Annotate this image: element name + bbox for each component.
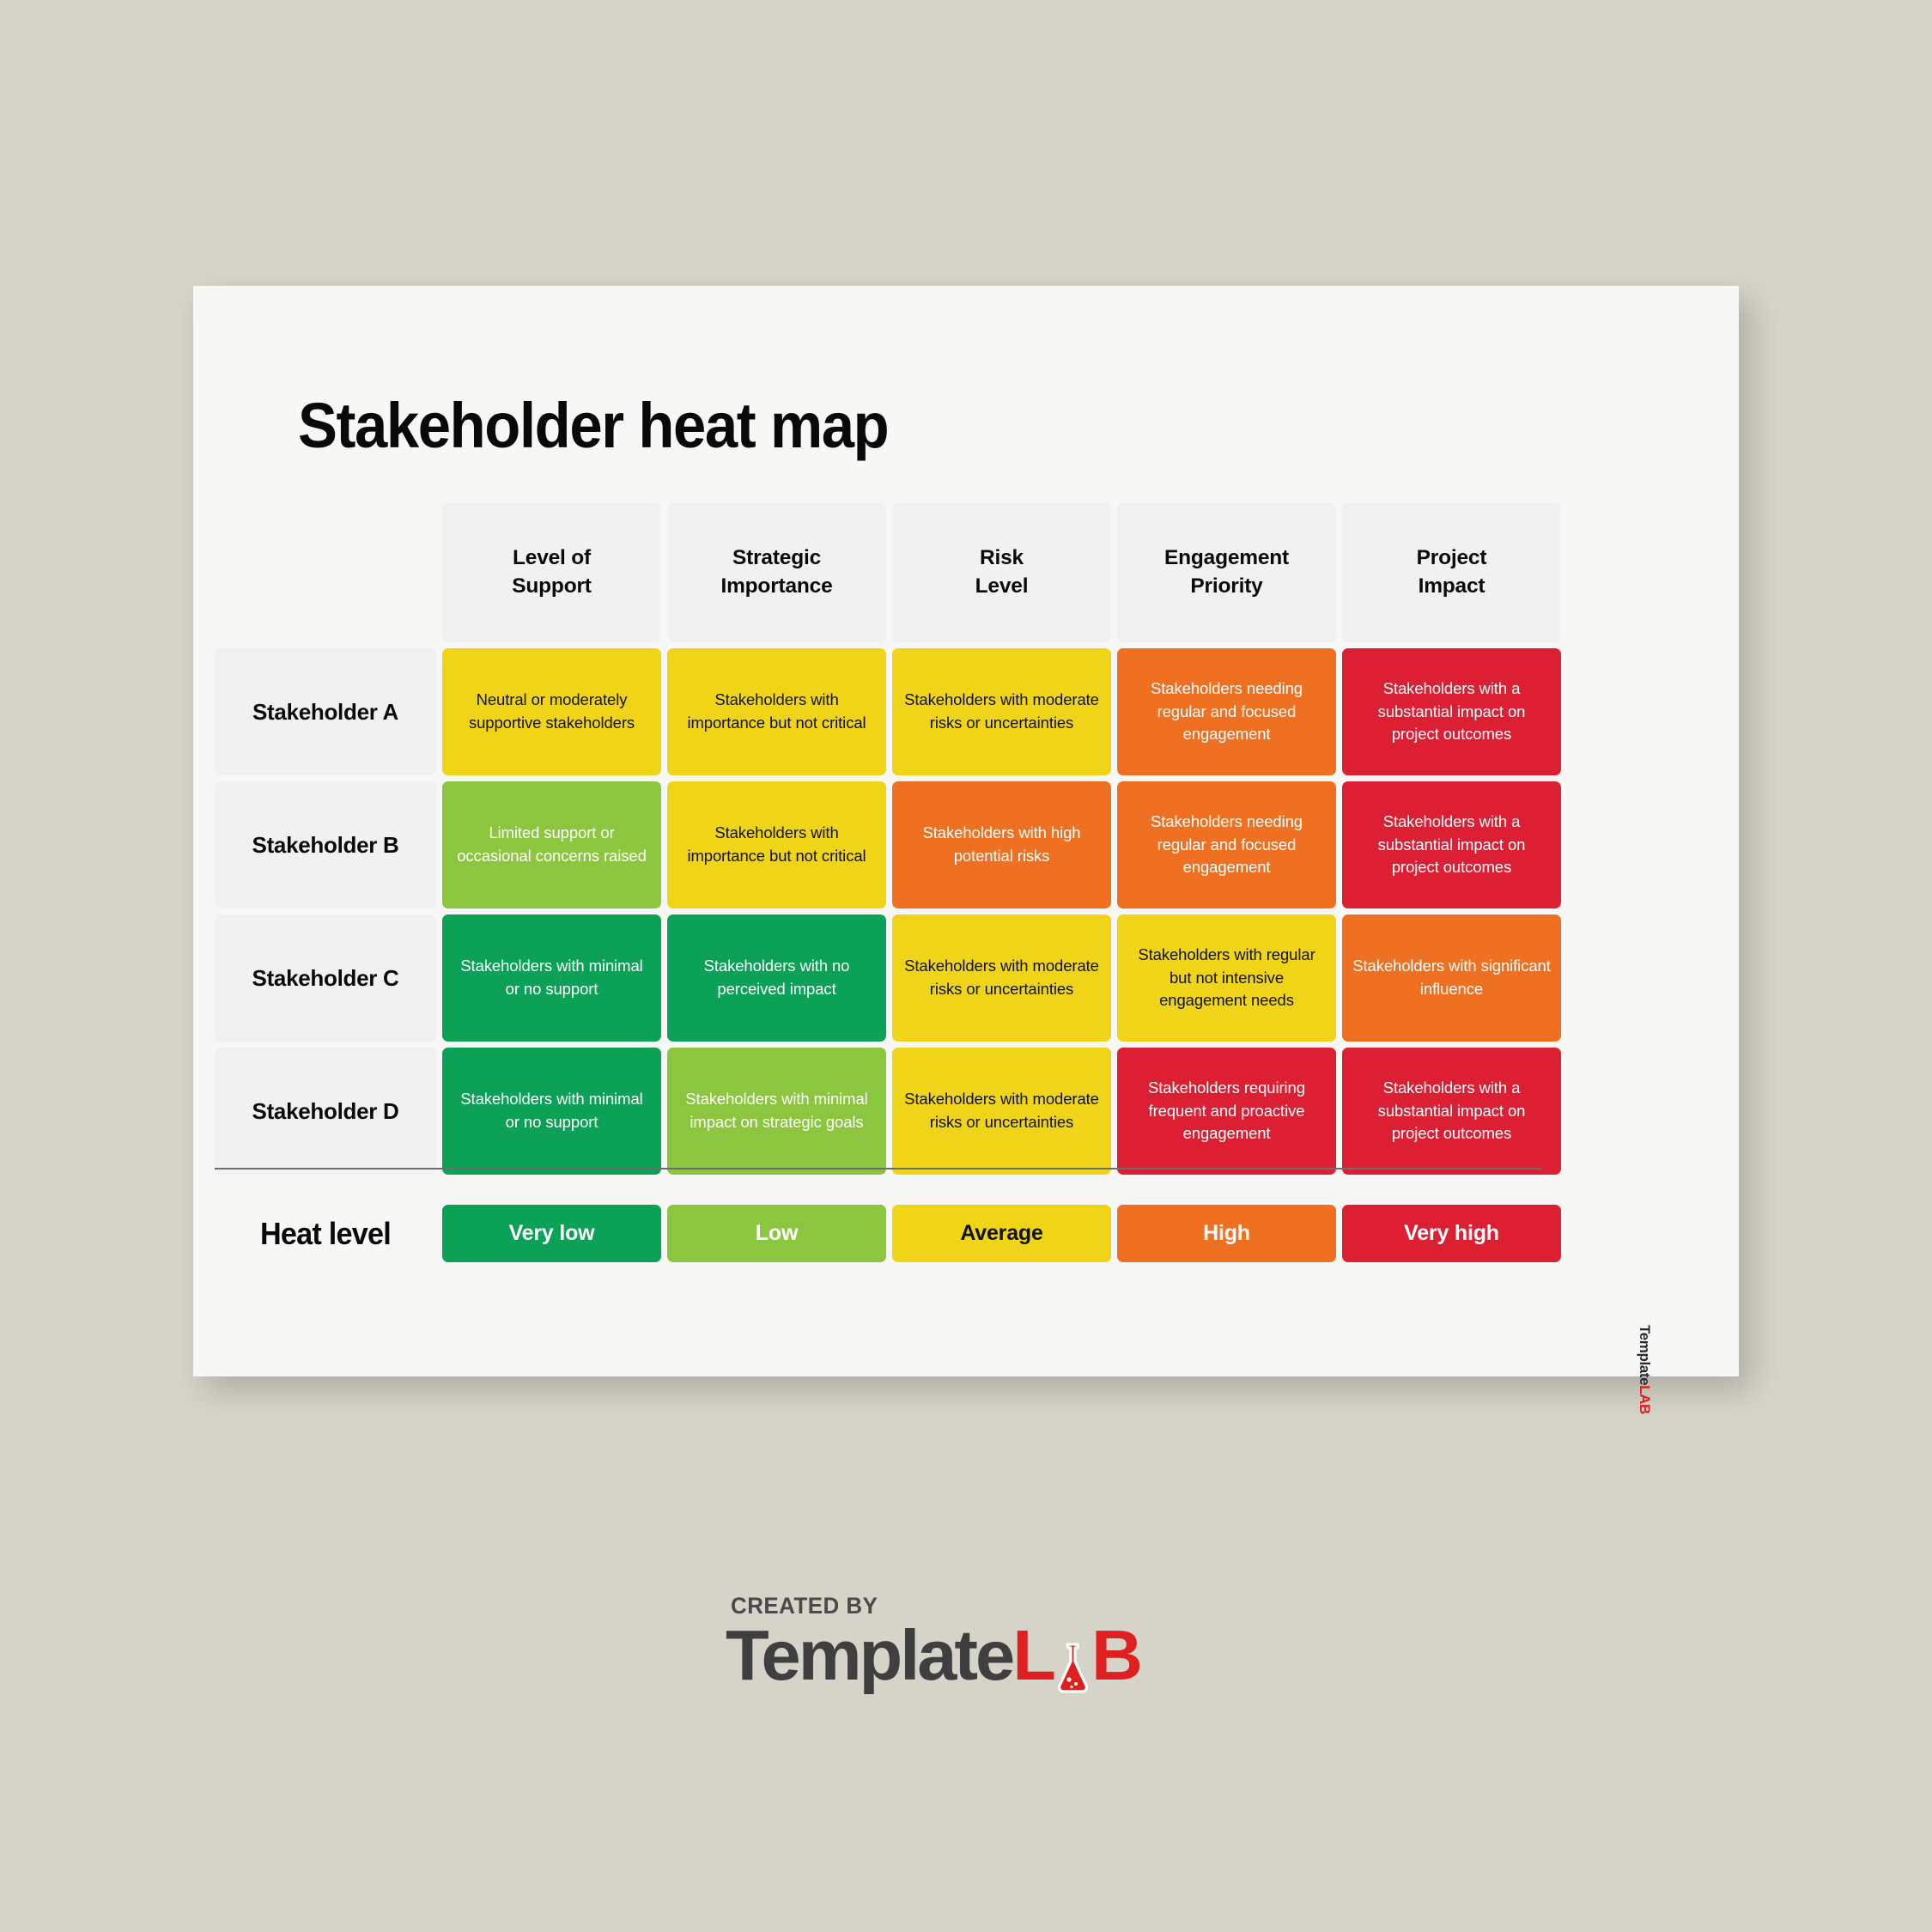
heatmap-cell[interactable]: Stakeholders with a substantial impact o… (1342, 648, 1561, 775)
legend-title: Heat level (220, 1205, 430, 1262)
heatmap-cell[interactable]: Stakeholders with importance but not cri… (667, 648, 886, 775)
column-header-line-1: Risk (980, 546, 1024, 569)
side-watermark-template: Template (1637, 1325, 1653, 1385)
column-header-line-2: Importance (720, 574, 832, 598)
logo-text-l: L (1012, 1614, 1054, 1697)
heatmap-row-stakeholder-d: Stakeholder D Stakeholders with minimal … (215, 1048, 1541, 1175)
heatmap-header-row: Level ofSupport StrategicImportance Risk… (215, 502, 1541, 642)
heatmap-cell[interactable]: Stakeholders with minimal impact on stra… (667, 1048, 886, 1175)
legend-chip-very-high[interactable]: Very high (1342, 1205, 1561, 1262)
heatmap-cell[interactable]: Limited support or occasional concerns r… (442, 781, 661, 908)
column-header-level-of-support: Level ofSupport (442, 502, 661, 642)
heatmap-cell[interactable]: Stakeholders needing regular and focused… (1117, 781, 1336, 908)
logo-text-b: B (1091, 1614, 1140, 1697)
flask-icon (1053, 1629, 1092, 1682)
logo-wordmark: TemplateLB (726, 1614, 1206, 1697)
column-header-risk-level: RiskLevel (892, 502, 1111, 642)
side-watermark: TemplateLAB (1636, 1325, 1653, 1462)
row-label-stakeholder-a: Stakeholder A (215, 648, 436, 775)
heatmap-cell[interactable]: Stakeholders with a substantial impact o… (1342, 781, 1561, 908)
column-header-line-2: Priority (1190, 574, 1262, 598)
heatmap-row-stakeholder-a: Stakeholder A Neutral or moderately supp… (215, 648, 1541, 775)
heatmap-grid: Level ofSupport StrategicImportance Risk… (215, 502, 1541, 1181)
heatmap-cell[interactable]: Stakeholders with moderate risks or unce… (892, 914, 1111, 1042)
heatmap-cell[interactable]: Stakeholders with regular but not intens… (1117, 914, 1336, 1042)
column-header-line-2: Impact (1419, 574, 1485, 598)
heatmap-cell[interactable]: Stakeholders with importance but not cri… (667, 781, 886, 908)
row-label-stakeholder-c: Stakeholder C (215, 914, 436, 1042)
column-header-line-2: Level (975, 574, 1029, 598)
templatelab-logo: CREATED BY TemplateLB (726, 1593, 1206, 1697)
legend-chip-low[interactable]: Low (667, 1205, 886, 1262)
heatmap-cell[interactable]: Stakeholders requiring frequent and proa… (1117, 1048, 1336, 1175)
heatmap-cell[interactable]: Stakeholders with a substantial impact o… (1342, 1048, 1561, 1175)
side-watermark-lab: LAB (1637, 1385, 1653, 1414)
column-header-line-1: Engagement (1164, 546, 1289, 569)
column-header-line-1: Strategic (732, 546, 821, 569)
logo-text-template: Template (726, 1614, 1012, 1697)
header-corner-spacer (215, 502, 436, 642)
column-header-line-1: Project (1417, 546, 1487, 569)
column-header-project-impact: ProjectImpact (1342, 502, 1561, 642)
heatmap-cell[interactable]: Stakeholders with minimal or no support (442, 914, 661, 1042)
row-label-stakeholder-b: Stakeholder B (215, 781, 436, 908)
section-divider (215, 1168, 1541, 1170)
heatmap-row-stakeholder-c: Stakeholder C Stakeholders with minimal … (215, 914, 1541, 1042)
legend-chip-average[interactable]: Average (892, 1205, 1111, 1262)
legend-chip-high[interactable]: High (1117, 1205, 1336, 1262)
heatmap-cell[interactable]: Neutral or moderately supportive stakeho… (442, 648, 661, 775)
page-title: Stakeholder heat map (298, 389, 888, 462)
heatmap-cell[interactable]: Stakeholders with high potential risks (892, 781, 1111, 908)
row-label-stakeholder-d: Stakeholder D (215, 1048, 436, 1175)
created-by-label: CREATED BY (731, 1593, 1188, 1619)
column-header-engagement-priority: EngagementPriority (1117, 502, 1336, 642)
heatmap-cell[interactable]: Stakeholders needing regular and focused… (1117, 648, 1336, 775)
document-card: Stakeholder heat map Level ofSupport Str… (193, 286, 1739, 1376)
heatmap-row-stakeholder-b: Stakeholder B Limited support or occasio… (215, 781, 1541, 908)
column-header-strategic-importance: StrategicImportance (667, 502, 886, 642)
heatmap-cell[interactable]: Stakeholders with significant influence (1342, 914, 1561, 1042)
heatmap-cell[interactable]: Stakeholders with no perceived impact (667, 914, 886, 1042)
heatmap-cell[interactable]: Stakeholders with moderate risks or unce… (892, 1048, 1111, 1175)
column-header-line-2: Support (512, 574, 592, 598)
heatmap-cell[interactable]: Stakeholders with moderate risks or unce… (892, 648, 1111, 775)
heat-level-legend: Heat level Very low Low Average High Ver… (215, 1205, 1541, 1262)
legend-chip-very-low[interactable]: Very low (442, 1205, 661, 1262)
column-header-line-1: Level of (513, 546, 591, 569)
heatmap-cell[interactable]: Stakeholders with minimal or no support (442, 1048, 661, 1175)
